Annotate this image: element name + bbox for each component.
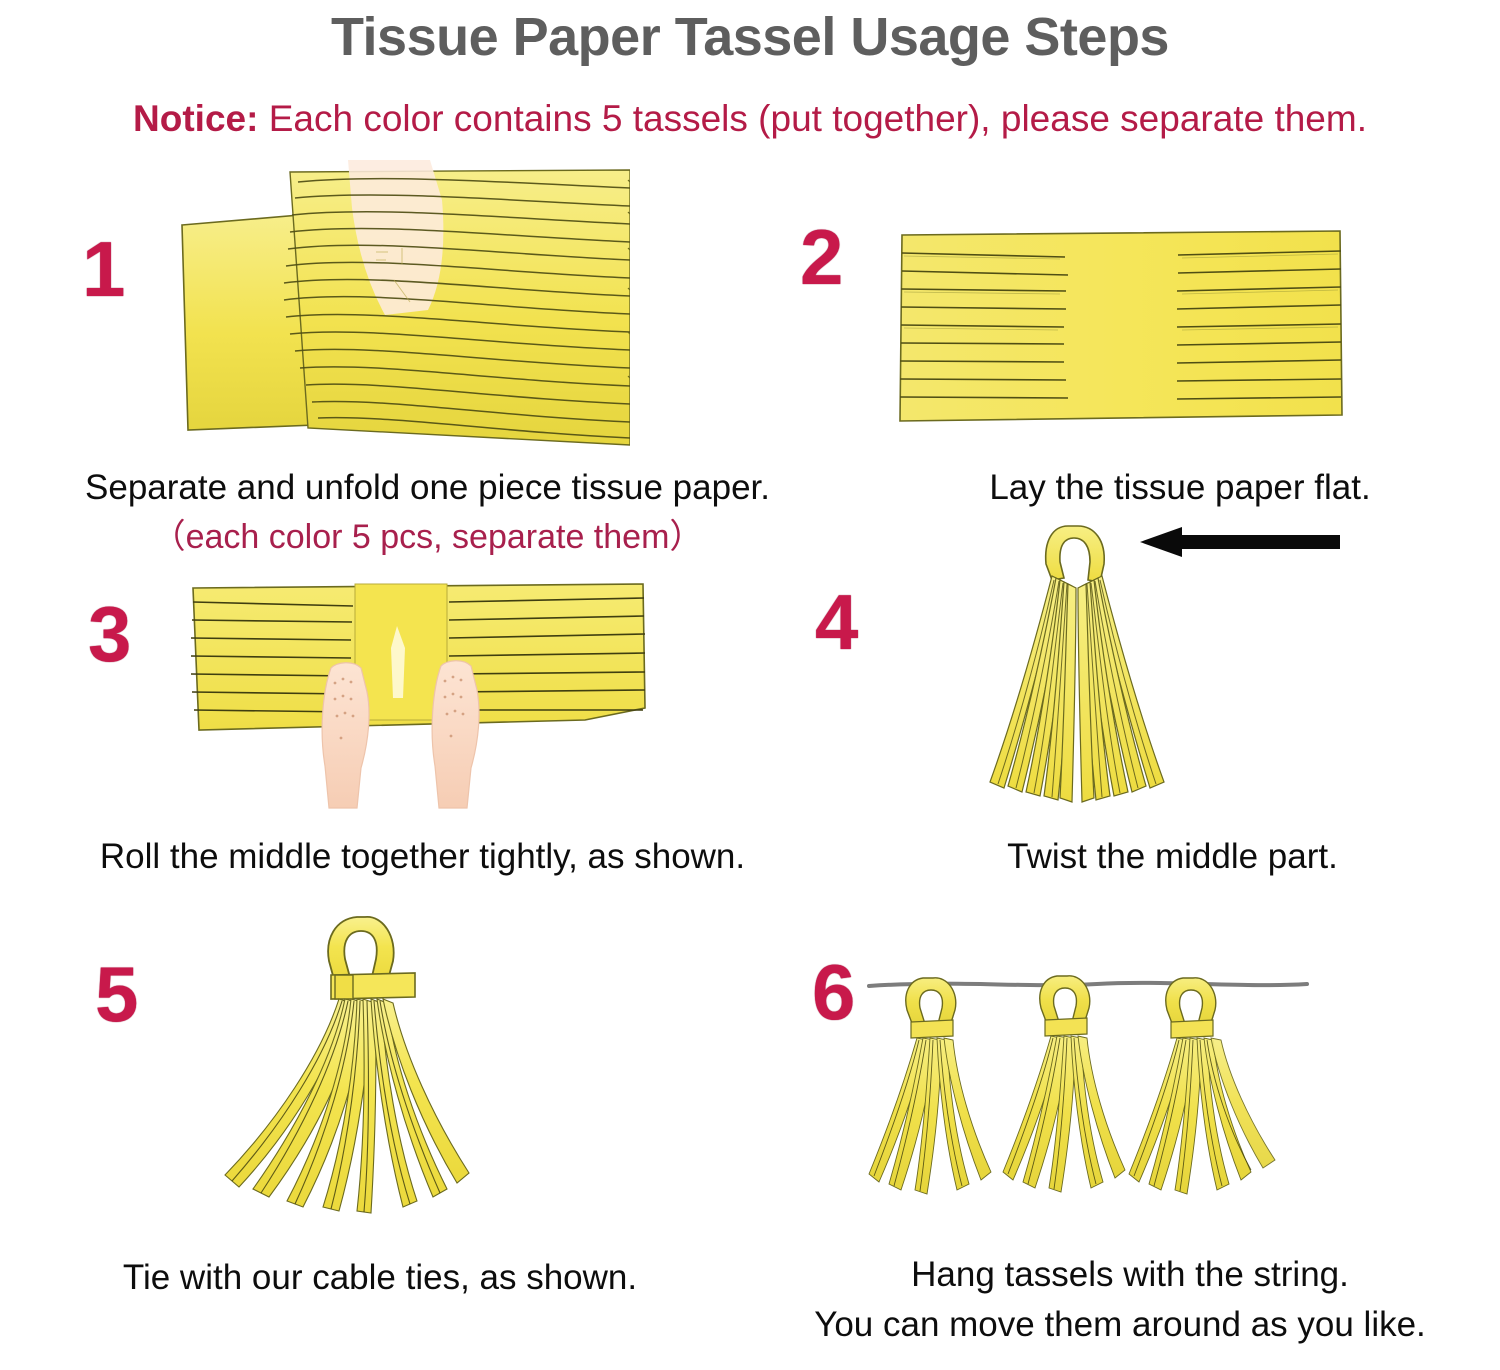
step-1-subcaption: （each color 5 pcs, separate them） — [0, 518, 855, 556]
notice-text: Each color contains 5 tassels (put toget… — [258, 98, 1367, 139]
tassel-2 — [1003, 976, 1125, 1192]
tassel-1 — [869, 978, 991, 1194]
step-2-caption: Lay the tissue paper flat. — [860, 468, 1500, 507]
step-6-caption-line1: Hang tassels with the string. — [760, 1255, 1500, 1294]
illustration-tassel-tied-with-cable-tie — [215, 905, 570, 1235]
illustration-flat-fringed-tissue-paper — [880, 225, 1345, 425]
step-5-caption: Tie with our cable ties, as shown. — [0, 1258, 760, 1297]
illustration-folded-twisted-tassel — [960, 520, 1210, 820]
illustration-three-tassels-hanging-on-string — [865, 970, 1310, 1225]
step-1-caption: Separate and unfold one piece tissue pap… — [0, 468, 855, 507]
step-number-4: 4 — [815, 583, 858, 661]
step-number-5: 5 — [95, 955, 138, 1033]
step-number-3: 3 — [88, 595, 131, 673]
left-pointing-arrow-icon — [1140, 525, 1340, 559]
left-hand — [322, 663, 369, 808]
illustration-hands-rolling-middle — [185, 580, 650, 820]
step-number-1: 1 — [82, 230, 125, 308]
illustration-fanned-tissue-paper-with-hand — [180, 160, 630, 450]
step-3-caption: Roll the middle together tightly, as sho… — [0, 837, 845, 876]
step-6-caption-line2: You can move them around as you like. — [740, 1305, 1500, 1344]
page-title: Tissue Paper Tassel Usage Steps — [0, 6, 1500, 68]
step-4-caption: Twist the middle part. — [845, 837, 1500, 876]
notice-label: Notice: — [133, 98, 258, 139]
step-number-6: 6 — [812, 953, 855, 1031]
tassel-3 — [1129, 978, 1275, 1194]
notice-banner: Notice: Each color contains 5 tassels (p… — [0, 98, 1500, 140]
right-hand — [432, 661, 479, 808]
step-number-2: 2 — [800, 218, 843, 296]
